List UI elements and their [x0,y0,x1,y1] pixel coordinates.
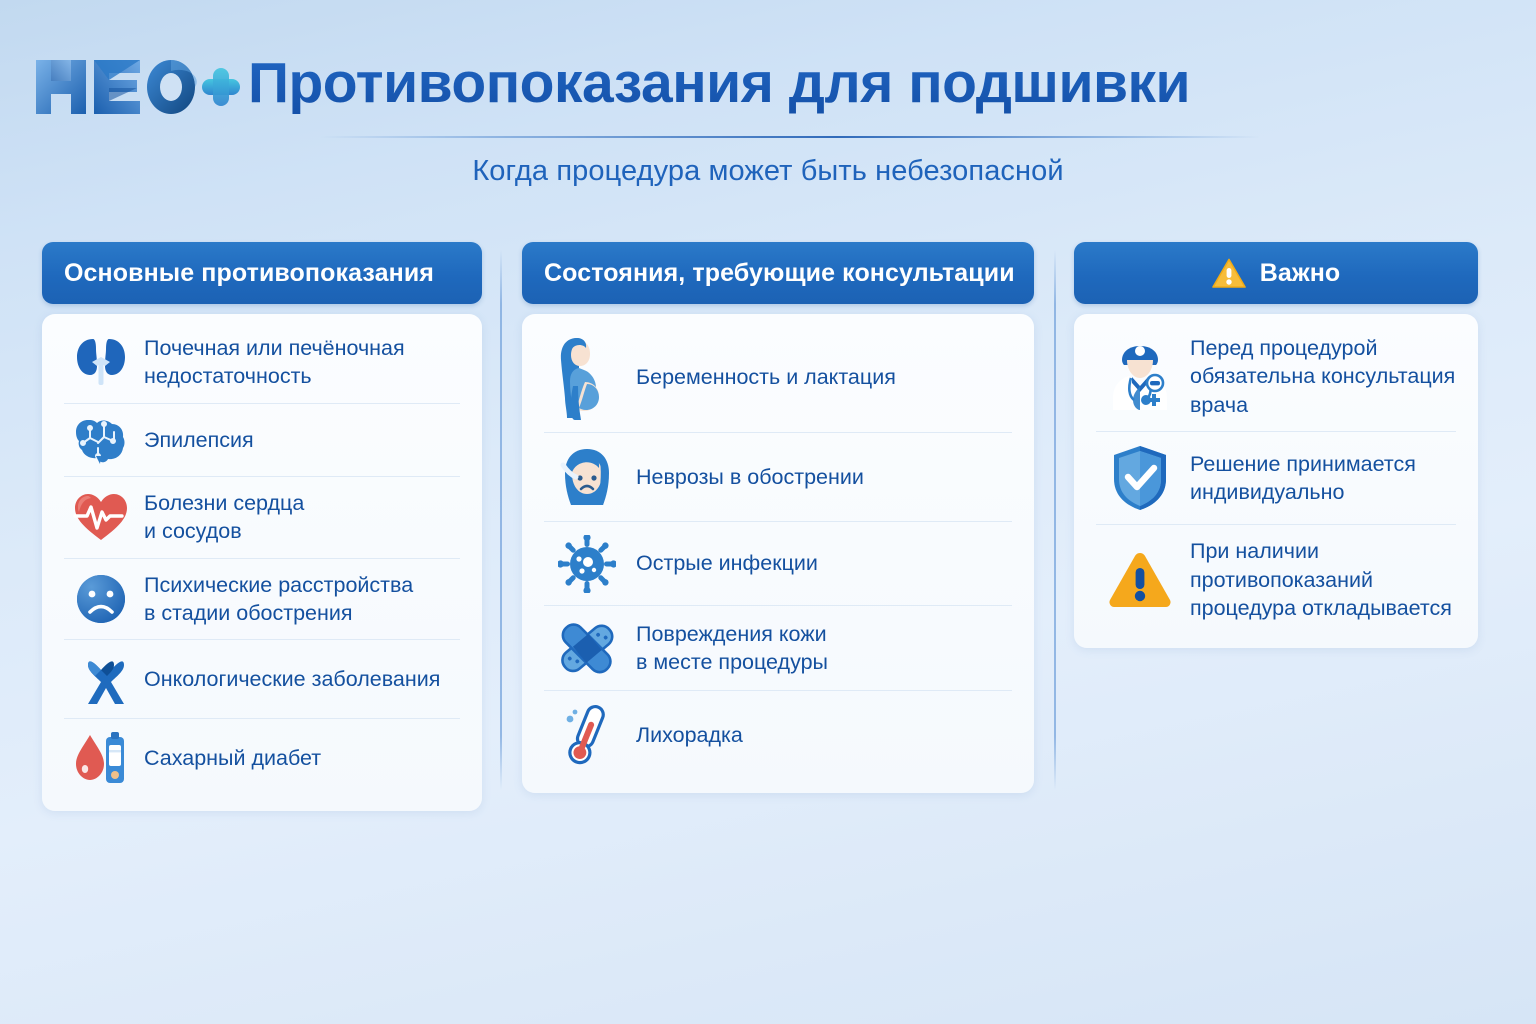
list-item[interactable]: Болезни сердца и сосудов [64,477,460,559]
column-divider-2 [1054,250,1056,790]
card-body: Перед процедурой обязательна консультаци… [1074,314,1478,648]
card-important: Важно [1074,242,1478,648]
card-header-title: Важно [1260,259,1341,288]
list-item-label: Перед процедурой обязательна консультаци… [1184,334,1455,419]
doctor-icon [1096,342,1184,412]
list-item[interactable]: Почечная или печёночная недостаточность [64,322,460,404]
list-item-label: Повреждения кожи в месте процедуры [630,620,828,677]
list-item-label: Острые инфекции [630,549,818,577]
warning-triangle-icon [1096,550,1184,610]
sad-face-icon [64,573,138,625]
blood-drop-glucometer-icon [64,731,138,785]
list-item-label: Беременность и лактация [630,363,896,391]
card-body: Почечная или печёночная недостаточность [42,314,482,811]
card-header: Основные противопоказания [42,242,482,304]
list-item[interactable]: Острые инфекции [544,522,1012,606]
content-columns: Основные противопоказания Почечная или п… [0,0,1536,1024]
list-item[interactable]: Решение принимается индивидуально [1096,432,1456,525]
card-header: Важно [1074,242,1478,304]
virus-icon [544,535,630,593]
card-header-title: Состояния, требующие консультации [544,259,1015,288]
heart-pulse-icon [64,492,138,542]
list-item[interactable]: Психические расстройства в стадии обостр… [64,559,460,641]
list-item-label: Почечная или печёночная недостаточность [138,334,405,391]
card-header-title: Основные противопоказания [64,259,434,288]
awareness-ribbon-icon [64,652,138,706]
list-item[interactable]: Эпилепсия [64,404,460,477]
list-item[interactable]: Повреждения кожи в месте процедуры [544,606,1012,691]
list-item-label: Психические расстройства в стадии обостр… [138,571,413,628]
list-item[interactable]: Неврозы в обострении [544,433,1012,522]
headache-woman-icon [544,445,630,509]
list-item[interactable]: Перед процедурой обязательна консультаци… [1096,322,1456,432]
column-divider-1 [500,250,502,790]
kidneys-icon [64,337,138,387]
list-item-label: Болезни сердца и сосудов [138,489,304,546]
card-header: Состояния, требующие консультации [522,242,1034,304]
list-item-label: Решение принимается индивидуально [1184,450,1416,507]
card-body: Беременность и лактация Неврозы в [522,314,1034,793]
card-main-contraindications: Основные противопоказания Почечная или п… [42,242,482,811]
list-item[interactable]: Онкологические заболевания [64,640,460,719]
list-item[interactable]: Беременность и лактация [544,322,1012,433]
pregnant-woman-icon [544,334,630,420]
brain-icon [64,416,138,464]
thermometer-icon [544,703,630,767]
list-item-label: Онкологические заболевания [138,665,440,693]
list-item-label: Эпилепсия [138,426,254,454]
bandage-icon [544,618,630,678]
list-item[interactable]: Лихорадка [544,691,1012,779]
shield-check-icon [1096,444,1184,512]
list-item-label: Лихорадка [630,721,743,749]
list-item[interactable]: Сахарный диабет [64,719,460,797]
card-conditions-requiring-consultation: Состояния, требующие консультации Береме… [522,242,1034,793]
warning-triangle-icon [1212,258,1246,289]
list-item-label: Неврозы в обострении [630,463,864,491]
list-item[interactable]: При наличии противопоказаний процедура о… [1096,525,1456,634]
list-item-label: При наличии противопоказаний процедура о… [1184,537,1452,622]
list-item-label: Сахарный диабет [138,744,321,772]
